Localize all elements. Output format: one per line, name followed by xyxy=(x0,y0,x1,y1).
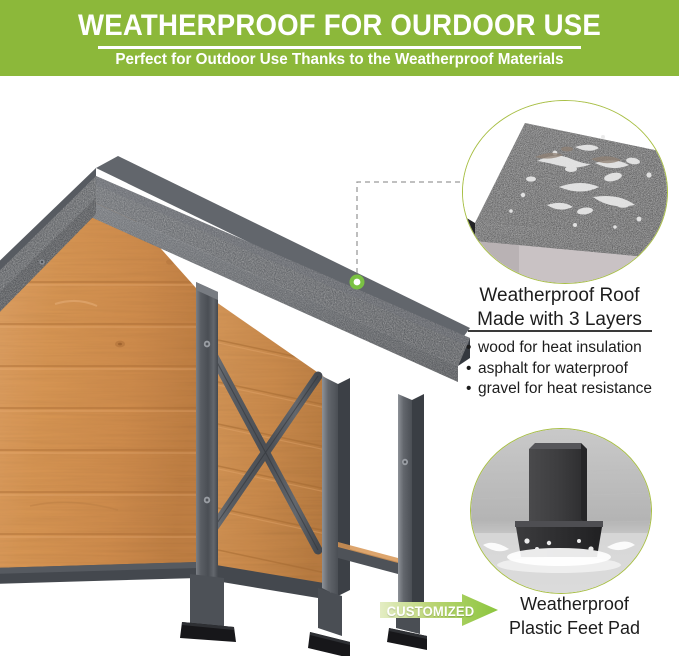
footpad-callout-heading: Weatherproof Plastic Feet Pad xyxy=(470,592,679,640)
inset-roof-closeup xyxy=(462,100,668,284)
infographic-page: WEATHERPROOF FOR OURDOOR USE Perfect for… xyxy=(0,0,679,656)
bullet-text: gravel for heat resistance xyxy=(478,380,652,397)
leg-post xyxy=(529,449,587,525)
page-title: WEATHERPROOF FOR OURDOOR USE xyxy=(27,9,652,43)
header-banner: WEATHERPROOF FOR OURDOOR USE Perfect for… xyxy=(0,0,679,76)
roof-bullet-list: •wood for heat insulation •asphalt for w… xyxy=(466,338,679,400)
roof-callout-heading: Weatherproof Roof Made with 3 Layers xyxy=(440,284,679,332)
roof-callout-divider xyxy=(468,330,652,332)
support-post-rear xyxy=(322,376,338,596)
support-post-outer xyxy=(398,394,412,616)
bullet-text: asphalt for waterproof xyxy=(478,360,628,377)
inset-footpad-closeup xyxy=(470,428,652,594)
connector-marker-inner xyxy=(354,279,361,286)
roof-callout-line2: Made with 3 Layers xyxy=(440,308,679,332)
roof-callout-line1: Weatherproof Roof xyxy=(440,284,679,308)
list-item: •gravel for heat resistance xyxy=(466,379,679,400)
page-subtitle: Perfect for Outdoor Use Thanks to the We… xyxy=(17,49,662,71)
list-item: •wood for heat insulation xyxy=(466,338,679,359)
foot-pad-rear xyxy=(308,588,350,656)
bullet-dot: • xyxy=(466,338,478,359)
footpad-callout-line1: Weatherproof xyxy=(470,592,679,616)
bullet-dot: • xyxy=(466,379,478,400)
footpad-callout-line2: Plastic Feet Pad xyxy=(470,616,679,640)
customized-label: CUSTOMIZED xyxy=(386,601,474,621)
bullet-dot: • xyxy=(466,359,478,380)
bullet-text: wood for heat insulation xyxy=(478,339,642,356)
foot-pad-front xyxy=(180,574,236,642)
roof-screws xyxy=(39,259,44,264)
list-item: •asphalt for waterproof xyxy=(466,359,679,380)
corner-post xyxy=(196,282,218,588)
